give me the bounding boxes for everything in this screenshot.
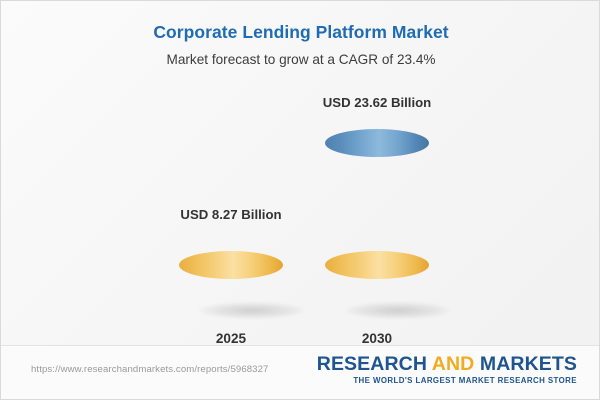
logo-wordmark: RESEARCH AND MARKETS — [317, 354, 577, 374]
value-label-2030: USD 23.62 Billion — [306, 95, 448, 110]
category-label-2030: 2030 — [306, 331, 448, 346]
logo-word-markets: MARKETS — [480, 353, 577, 375]
logo-word-and: AND — [432, 353, 475, 375]
logo-tagline: THE WORLD'S LARGEST MARKET RESEARCH STOR… — [317, 376, 577, 385]
cylinder-shadow — [345, 302, 451, 319]
category-label-2025: 2025 — [160, 331, 302, 346]
cylinder-shadow — [199, 302, 305, 319]
logo-word-research: RESEARCH — [317, 353, 427, 375]
chart-plot-area: USD 8.27 Billion 2025 USD 23.62 Billion … — [1, 1, 600, 346]
source-url[interactable]: https://www.researchandmarkets.com/repor… — [31, 364, 269, 375]
value-label-2025: USD 8.27 Billion — [160, 207, 302, 222]
market-infographic: Corporate Lending Platform Market Market… — [0, 0, 600, 400]
research-and-markets-logo[interactable]: RESEARCH AND MARKETS THE WORLD'S LARGEST… — [317, 354, 577, 385]
footer: https://www.researchandmarkets.com/repor… — [1, 345, 600, 399]
